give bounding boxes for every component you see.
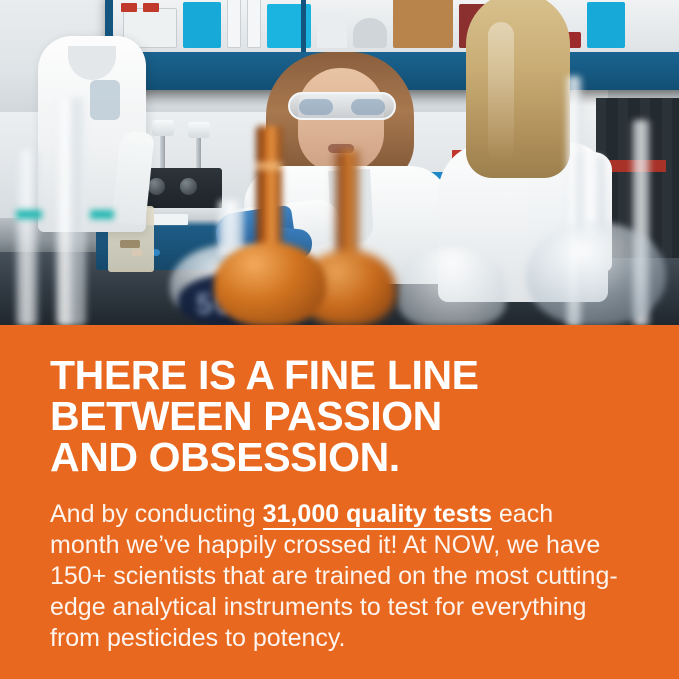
foreground-funnel: [398, 248, 506, 325]
socket-outlet: [120, 240, 140, 248]
shelf-red-marker: [143, 3, 159, 12]
flask-neck: [336, 150, 358, 258]
shelf-dish: [353, 18, 387, 48]
ad-headline: THERE IS A FINE LINE BETWEEN PASSION AND…: [50, 355, 629, 478]
foreground-flask-right: [520, 156, 670, 325]
cabinet-divider: [301, 0, 306, 52]
technician-left: [38, 36, 146, 232]
quality-tests-highlight: 31,000 quality tests: [263, 500, 492, 530]
clamp-holder: [188, 122, 210, 138]
held-item: [90, 80, 120, 120]
laboratory-photo: 500: [0, 0, 679, 325]
flask-body: [214, 242, 326, 325]
flask-body: [526, 222, 666, 325]
lab-quality-ad-card: 500 THERE IS A FINE LINE BETWEEN PASSION…: [0, 0, 679, 679]
cylinder-marking: [90, 210, 114, 219]
safety-goggles-icon: [288, 92, 396, 120]
shaker-knob: [180, 178, 197, 195]
flask-neck-band: [256, 162, 282, 170]
ad-body-copy: And by conducting 31,000 quality tests e…: [50, 499, 629, 654]
body-copy-before: And by conducting: [50, 500, 263, 528]
amber-flask-primary: [214, 126, 326, 325]
shelf-blue-bin: [183, 2, 221, 48]
photo-scene: 500: [0, 0, 679, 325]
shelf-red-marker: [121, 3, 137, 12]
shelf-bottle: [247, 0, 261, 48]
shelf-bottle: [227, 0, 241, 48]
graduated-cylinder: [56, 98, 86, 325]
orange-copy-panel: THERE IS A FINE LINE BETWEEN PASSION AND…: [0, 325, 679, 679]
blonde-hair: [466, 0, 570, 178]
shelf-container: [317, 12, 347, 48]
lab-coat-collar: [68, 46, 116, 80]
graduated-cylinder: [16, 150, 38, 325]
flask-neck: [256, 126, 282, 254]
cylinder-marking: [16, 210, 42, 219]
shaker-knob: [148, 178, 165, 195]
clamp-holder: [152, 120, 174, 136]
